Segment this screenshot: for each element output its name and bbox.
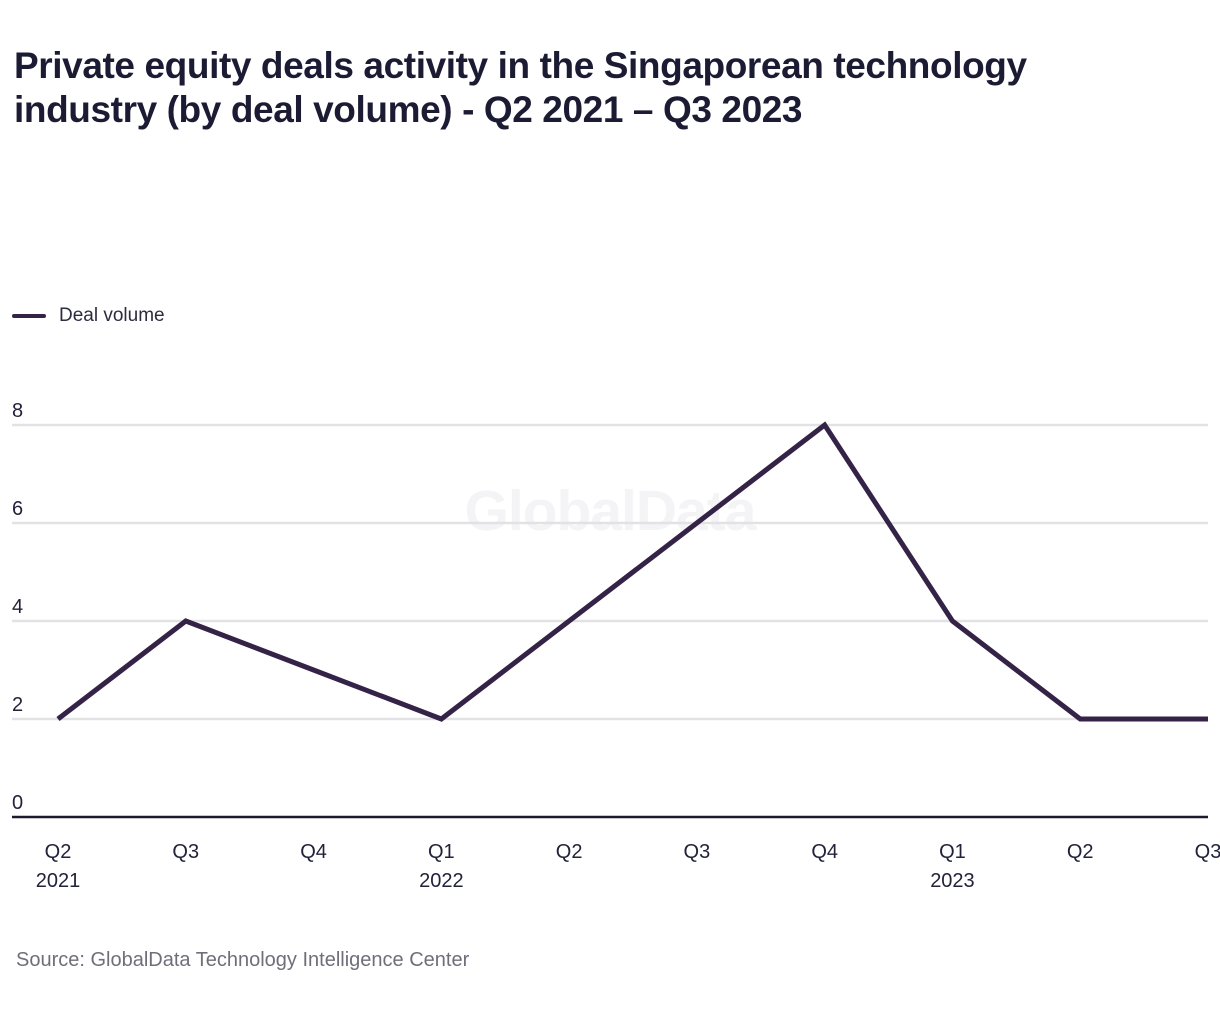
x-axis-tick-label: Q4 <box>249 838 379 867</box>
x-axis-tick-label: Q3 <box>121 838 251 867</box>
deal-volume-line <box>58 425 1208 719</box>
source-note: Source: GlobalData Technology Intelligen… <box>16 950 469 970</box>
globaldata-watermark: GlobalData <box>0 478 1220 544</box>
x-tick-quarter: Q2 <box>504 838 634 867</box>
x-axis-tick-label: Q2 <box>1015 838 1145 867</box>
x-tick-year: 2022 <box>376 867 506 896</box>
y-axis-tick-label: 4 <box>12 597 46 617</box>
y-axis-tick-label: 6 <box>12 499 46 519</box>
x-tick-quarter: Q1 <box>887 838 1017 867</box>
x-tick-year: 2023 <box>887 867 1017 896</box>
x-axis-tick-label: Q3 <box>632 838 762 867</box>
x-axis-tick-label: Q12022 <box>376 838 506 896</box>
x-tick-year: 2021 <box>0 867 123 896</box>
page-title: Private equity deals activity in the Sin… <box>14 44 1154 132</box>
x-tick-quarter: Q3 <box>632 838 762 867</box>
x-tick-quarter: Q4 <box>760 838 890 867</box>
x-tick-quarter: Q2 <box>1015 838 1145 867</box>
x-tick-quarter: Q3 <box>1143 838 1220 867</box>
x-axis-tick-label: Q22021 <box>0 838 123 896</box>
x-tick-quarter: Q1 <box>376 838 506 867</box>
chart-page: Private equity deals activity in the Sin… <box>0 0 1220 1020</box>
x-axis-tick-label: Q2 <box>504 838 634 867</box>
gridlines-group <box>12 425 1208 719</box>
x-axis-tick-label: Q4 <box>760 838 890 867</box>
y-axis-tick-label: 2 <box>12 695 46 715</box>
x-tick-quarter: Q2 <box>0 838 123 867</box>
y-axis-tick-label: 8 <box>12 401 46 421</box>
x-tick-quarter: Q4 <box>249 838 379 867</box>
y-axis-tick-label: 0 <box>12 793 46 813</box>
x-axis-tick-label: Q3 <box>1143 838 1220 867</box>
legend-item-label: Deal volume <box>59 306 165 325</box>
x-tick-quarter: Q3 <box>121 838 251 867</box>
x-axis-tick-label: Q12023 <box>887 838 1017 896</box>
